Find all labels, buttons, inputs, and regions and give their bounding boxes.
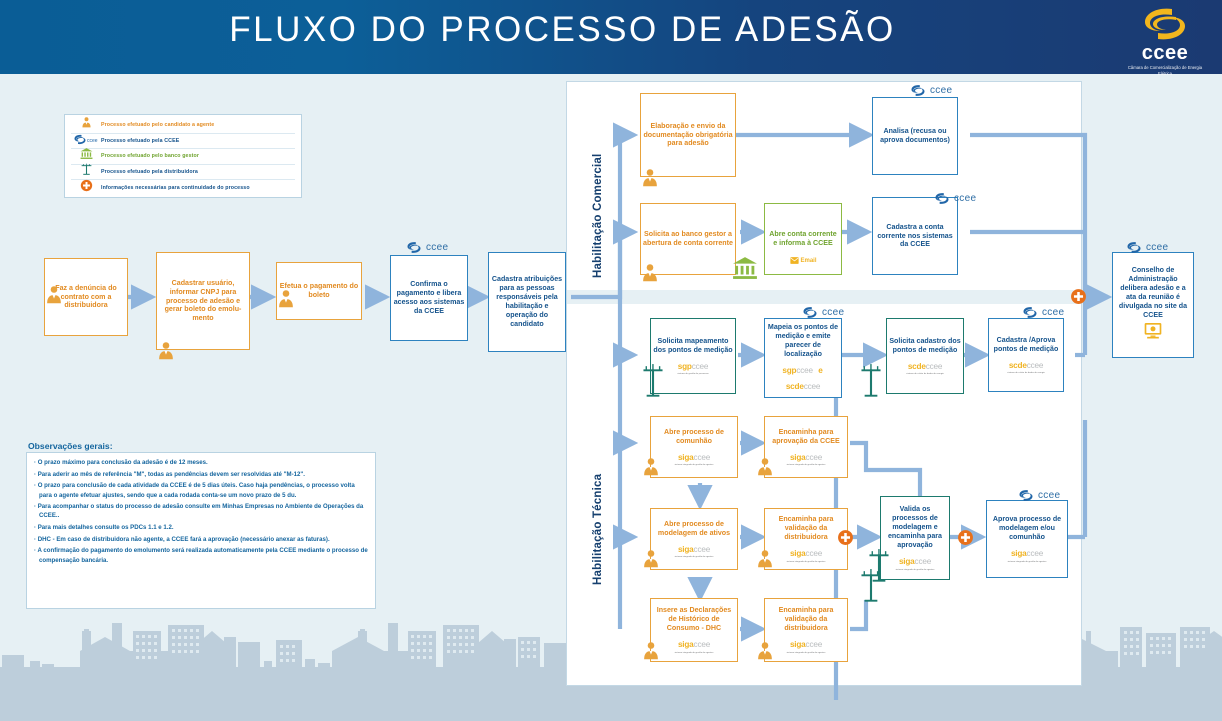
system-badge-siga: sigaccee sistema integrado de gestão de … (787, 448, 826, 467)
observation-item: · A confirmação do pagamento do emolumen… (34, 546, 368, 565)
person-icon (640, 548, 662, 575)
system-subtitle: sistema integrado de gestão de agentes (1008, 561, 1047, 563)
panel-section-divider (567, 290, 1081, 304)
person-icon (43, 284, 65, 311)
person-icon (639, 167, 661, 194)
legend-label: Processo efetuado pela CCEE (101, 138, 179, 144)
legend-item-ccee: ccee Processo efetuado pela CCEE (71, 134, 295, 150)
observation-item: · Para mais detalhes consulte os PDCs 1.… (34, 523, 368, 532)
flow-node-abre-comunhao[interactable]: Abre processo de comunhão sigaccee siste… (650, 416, 738, 478)
node-label: Solicita cadastro dos pontos de medição (889, 337, 961, 355)
power-tower-icon (858, 568, 884, 609)
node-label: Elaboração e envio da documentação obrig… (643, 122, 733, 149)
system-badge-siga: sigaccee sistema integrado de gestão de … (787, 544, 826, 563)
node-label: Confirma o pagamento e libera acesso aos… (393, 280, 465, 316)
flow-node-mapeia-pontos[interactable]: Mapeia os pontos de medição e emite pare… (764, 318, 842, 398)
node-label: Encaminha para validação da distribuidor… (767, 606, 845, 633)
node-label: Insere as Declarações de Histórico de Co… (653, 606, 735, 633)
system-name: sgp (782, 366, 796, 375)
node-label: Analisa (recusa ou aprova documentos) (875, 127, 955, 145)
person-icon (640, 456, 662, 483)
node-label: Cadastra /Aprova pontos de medição (991, 336, 1061, 354)
ccee-badge: ccee (1124, 241, 1168, 254)
system-badge-sgp-scde: sgpccee e scdeccee (767, 361, 839, 393)
system-badge-siga: sigaccee sistema integrado de gestão de … (1008, 544, 1047, 563)
observations-title: Observações gerais: (28, 441, 113, 451)
observation-item: · DHC - Em caso de distribuidora não age… (34, 535, 368, 544)
system-name: siga (678, 545, 694, 554)
flow-node-cadastra-atribuicoes[interactable]: Cadastra atribuições para as pessoas res… (488, 252, 566, 352)
observation-item: · Para acompanhar o status do processo d… (34, 502, 368, 521)
node-label: Encaminha para aprovação da CCEE (767, 428, 845, 446)
system-suffix: ccee (806, 453, 823, 462)
system-suffix: ccee (694, 640, 711, 649)
system-suffix: ccee (692, 362, 709, 371)
node-label: Conselho de Administração delibera adesã… (1115, 266, 1191, 320)
ccee-swirl-icon (1142, 6, 1188, 42)
system-suffix: ccee (806, 640, 823, 649)
node-label: Solicita mapeamento dos pontos de mediçã… (653, 337, 733, 355)
ccee-badge: ccee (932, 192, 976, 205)
system-suffix: ccee (1027, 549, 1044, 558)
system-name: scde (1009, 361, 1027, 370)
node-label: Abre processo de modelagem de ativos (653, 520, 735, 538)
node-label: Abre processo de comunhão (653, 428, 735, 446)
email-badge: Email (790, 256, 817, 265)
flow-node-abre-modelagem[interactable]: Abre processo de modelagem de ativos sig… (650, 508, 738, 570)
person-icon (155, 340, 177, 367)
system-suffix: ccee (1027, 361, 1044, 370)
system-subtitle: sistema de coleta de dados de energia (906, 373, 944, 375)
system-badge-siga: sigaccee sistema integrado de gestão de … (675, 540, 714, 559)
bank-icon (732, 255, 758, 286)
plus-circle-icon (957, 529, 974, 551)
system-subtitle: sistema integrado de gestão de agentes (675, 652, 714, 654)
person-icon (275, 288, 297, 315)
system-subtitle: sistema de coleta de dados de energia (1007, 372, 1045, 374)
system-name: siga (678, 640, 694, 649)
email-icon (790, 256, 799, 265)
system-badge-siga: sigaccee sistema integrado de gestão de … (787, 635, 826, 654)
system-suffix: ccee (694, 545, 711, 554)
legend-label: Informações necessárias para continuidad… (101, 185, 250, 191)
power-tower-icon (858, 363, 884, 404)
node-label: Abre conta corrente e informa à CCEE (767, 230, 839, 248)
system-subtitle: sistema integrado de gestão de agentes (787, 652, 826, 654)
node-label: Mapeia os pontos de medição e emite pare… (767, 323, 839, 359)
system-name: siga (790, 453, 806, 462)
ccee-badge: ccee (404, 241, 448, 254)
plus-circle-icon (837, 529, 854, 551)
power-tower-icon (640, 363, 666, 404)
system-suffix: ccee (804, 382, 821, 391)
node-label: Aprova processo de modelagem e/ou comunh… (989, 515, 1065, 542)
legend-item-info: Informações necessárias para continuidad… (71, 180, 295, 196)
system-subtitle: sistema integrado de gestão de agentes (787, 464, 826, 466)
system-name: siga (1011, 549, 1027, 558)
ccee-brand-logo: ccee Câmara de Comercialização de Energi… (1122, 6, 1208, 86)
system-badge-siga: sigaccee sistema integrado de gestão de … (675, 448, 714, 467)
ccee-badge: ccee (1016, 489, 1060, 502)
observation-item: · Para aderir ao mês de referência "M", … (34, 470, 368, 479)
system-badge-siga: sigaccee sistema integrado de gestão de … (675, 635, 714, 654)
person-icon (754, 548, 776, 575)
system-badge-sgp: sgpccee sistema de gestão de processos (677, 357, 708, 376)
flow-node-elaboracao-documentacao[interactable]: Elaboração e envio da documentação obrig… (640, 93, 736, 177)
flow-node-cadastra-conta[interactable]: Cadastra a conta corrente nos sistemas d… (872, 197, 958, 275)
system-badge-siga: sigaccee sistema integrado de gestão de … (896, 552, 935, 571)
flow-node-aprova-modelagem[interactable]: Aprova processo de modelagem e/ou comunh… (986, 500, 1068, 578)
flow-node-encaminha-aprovacao-ccee[interactable]: Encaminha para aprovação da CCEE sigacce… (764, 416, 848, 478)
system-subtitle: sistema integrado de gestão de agentes (896, 569, 935, 571)
legend-item-candidato: Processo efetuado pelo candidato a agent… (71, 118, 295, 134)
node-label: Cadastrar usuário, informar CNPJ para pr… (159, 279, 247, 324)
legend-item-distribuidora: Processo efetuado pela distribuidora (71, 165, 295, 181)
flow-node-cadastra-aprova-pontos[interactable]: Cadastra /Aprova pontos de medição scdec… (988, 318, 1064, 392)
system-suffix: ccee (694, 453, 711, 462)
system-name: scde (908, 362, 926, 371)
plus-circle-icon (1070, 288, 1087, 310)
flow-node-encaminha-validacao-dist-1[interactable]: Encaminha para validação da distribuidor… (764, 508, 848, 570)
page-title: FLUXO DO PROCESSO DE ADESÃO (0, 10, 1125, 50)
ccee-badge-label: ccee (1042, 307, 1064, 318)
flow-node-encaminha-validacao-dist-2[interactable]: Encaminha para validação da distribuidor… (764, 598, 848, 662)
plus-circle-icon (71, 179, 101, 197)
system-badge-scde: scdeccee sistema de coleta de dados de e… (906, 357, 944, 376)
person-icon (754, 640, 776, 667)
system-name: siga (678, 453, 694, 462)
ccee-badge-label: ccee (426, 242, 448, 253)
system-name: sgp (678, 362, 692, 371)
node-label: Valida os processos de modelagem e encam… (883, 505, 947, 550)
flow-node-conselho-administracao[interactable]: Conselho de Administração delibera adesã… (1112, 252, 1194, 358)
page-header: FLUXO DO PROCESSO DE ADESÃO ccee Câmara … (0, 0, 1222, 74)
system-badge-scde: scdeccee sistema de coleta de dados de e… (1007, 356, 1045, 375)
section-label-tecnica: Habilitação Técnica (592, 405, 604, 585)
flow-node-solicita-cadastro-pontos[interactable]: Solicita cadastro dos pontos de medição … (886, 318, 964, 394)
legend-item-banco: Processo efetuado pelo banco gestor (71, 149, 295, 165)
person-icon (639, 262, 661, 289)
system-subtitle: sistema integrado de gestão de agentes (675, 464, 714, 466)
flow-node-confirma-pagamento[interactable]: Confirma o pagamento e libera acesso aos… (390, 255, 468, 341)
ccee-badge-label: ccee (930, 85, 952, 96)
system-subtitle: sistema integrado de gestão de agentes (675, 556, 714, 558)
observation-item: · O prazo máximo para conclusão da adesã… (34, 458, 368, 467)
svg-text:ccee: ccee (87, 138, 98, 144)
system-name: siga (790, 640, 806, 649)
section-label-comercial: Habilitação Comercial (592, 98, 604, 278)
node-label: Cadastra a conta corrente nos sistemas d… (875, 223, 955, 250)
ccee-badge: ccee (1020, 306, 1064, 319)
person-icon (754, 456, 776, 483)
legend-label: Processo efetuado pelo banco gestor (101, 153, 199, 159)
observation-item: · O prazo para conclusão de cada ativida… (34, 481, 368, 500)
monitor-icon (1143, 322, 1163, 344)
system-suffix: ccee (806, 549, 823, 558)
node-label: Solicita ao banco gestor a abertura de c… (643, 230, 733, 248)
system-conjunction: e (818, 366, 822, 375)
system-subtitle: sistema integrado de gestão de agentes (787, 561, 826, 563)
ccee-badge-label: ccee (1038, 490, 1060, 501)
ccee-badge-label: ccee (1146, 242, 1168, 253)
ccee-badge: ccee (908, 84, 952, 97)
flow-node-cadastrar-usuario[interactable]: Cadastrar usuário, informar CNPJ para pr… (156, 252, 250, 350)
system-name: siga (790, 549, 806, 558)
system-suffix: ccee (796, 366, 813, 375)
system-suffix: ccee (915, 557, 932, 566)
logo-subtitle: Câmara de Comercialização de Energia Elé… (1122, 65, 1208, 76)
ccee-badge-label: ccee (954, 193, 976, 204)
system-name: siga (899, 557, 915, 566)
system-name: scde (786, 382, 804, 391)
ccee-badge-label: ccee (822, 307, 844, 318)
legend-panel: Processo efetuado pelo candidato a agent… (64, 114, 302, 198)
system-suffix: ccee (926, 362, 943, 371)
node-label: Cadastra atribuições para as pessoas res… (491, 275, 563, 329)
node-label: Encaminha para validação da distribuidor… (767, 515, 845, 542)
observations-panel: · O prazo máximo para conclusão da adesã… (26, 452, 376, 609)
ccee-badge: ccee (800, 306, 844, 319)
logo-wordmark: ccee (1122, 43, 1208, 63)
email-badge-label: Email (801, 258, 817, 264)
system-subtitle: sistema de gestão de processos (677, 373, 708, 375)
flow-node-insere-dhc[interactable]: Insere as Declarações de Histórico de Co… (650, 598, 738, 662)
legend-label: Processo efetuado pelo candidato a agent… (101, 122, 214, 128)
person-icon (640, 640, 662, 667)
flow-node-analisa-documentos[interactable]: Analisa (recusa ou aprova documentos) (872, 97, 958, 175)
legend-label: Processo efetuado pela distribuidora (101, 169, 198, 175)
